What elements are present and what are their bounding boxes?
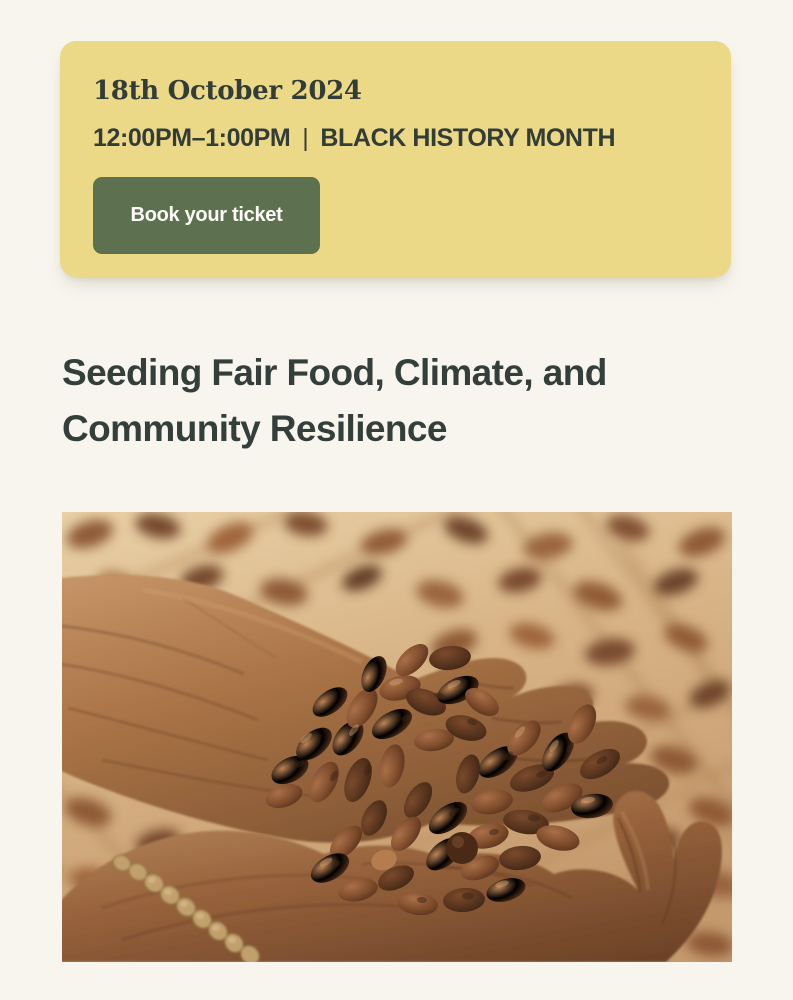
book-ticket-button[interactable]: Book your ticket [93,177,320,254]
meta-separator: | [290,125,320,151]
article-heading: Seeding Fair Food, Climate, and Communit… [62,345,662,456]
event-banner-card: 18th October 2024 12:00PM–1:00PM | BLACK… [60,41,731,277]
cacao-beans-photo [62,512,732,962]
article-image [62,512,732,962]
event-date: 18th October 2024 [93,74,698,105]
event-time: 12:00PM–1:00PM [93,125,290,151]
event-category: BLACK HISTORY MONTH [320,125,615,151]
event-meta-line: 12:00PM–1:00PM | BLACK HISTORY MONTH [93,105,698,151]
